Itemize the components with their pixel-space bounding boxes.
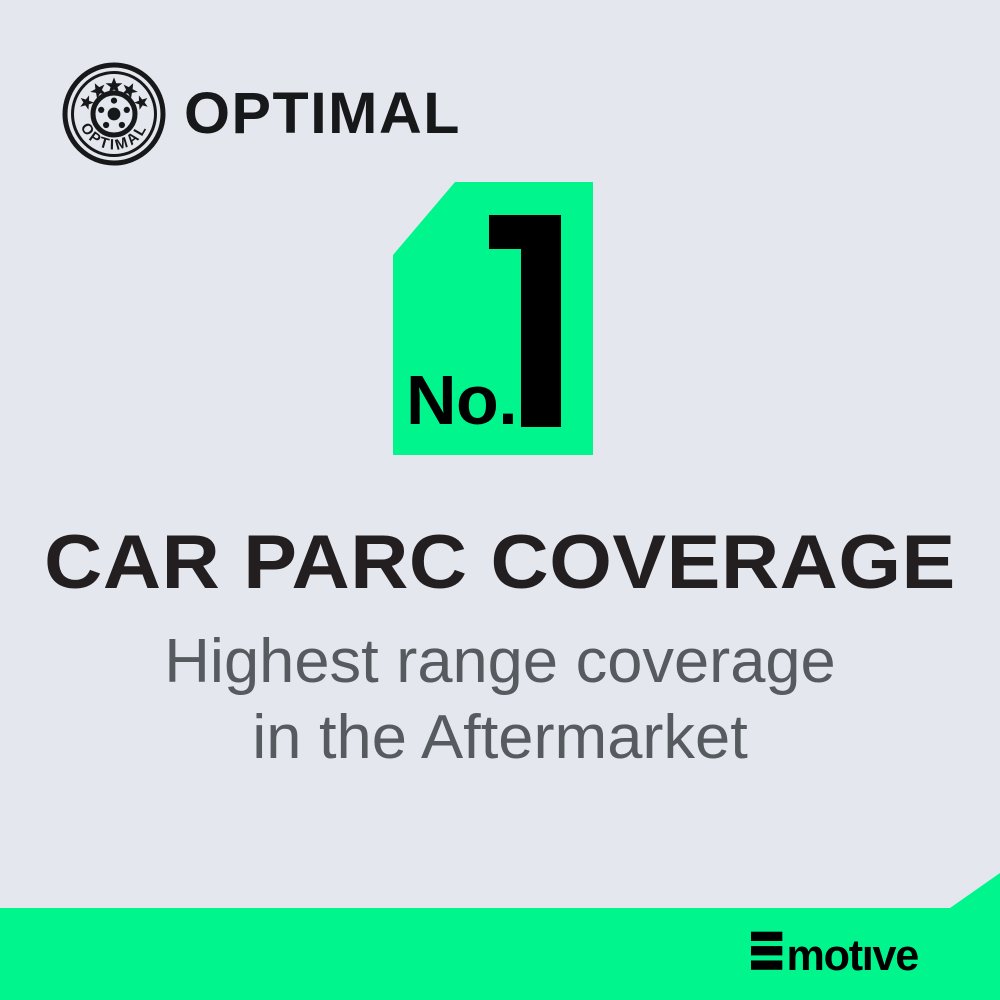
emotive-wordmark-text: motıve bbox=[786, 932, 918, 974]
page-title: CAR PARC COVERAGE bbox=[0, 524, 1000, 602]
brand-logo: OPTIMAL OPTIMAL bbox=[62, 62, 455, 166]
copy-block: CAR PARC COVERAGE Highest range coverage… bbox=[0, 524, 1000, 776]
brand-wordmark: OPTIMAL bbox=[184, 85, 461, 143]
poster-canvas: OPTIMAL OPTIMAL No. bbox=[0, 0, 1000, 1000]
subtitle: Highest range coverage in the Aftermarke… bbox=[0, 624, 1000, 776]
subtitle-line-1: Highest range coverage bbox=[0, 624, 1000, 700]
optimal-seal-icon: OPTIMAL bbox=[62, 62, 166, 166]
emotive-logo: motıve bbox=[751, 930, 964, 974]
footer-banner: motıve bbox=[0, 860, 1000, 1000]
subtitle-line-2: in the Aftermarket bbox=[0, 700, 1000, 776]
rank-prefix: No. bbox=[406, 361, 517, 439]
rank-badge: No. bbox=[393, 182, 593, 455]
